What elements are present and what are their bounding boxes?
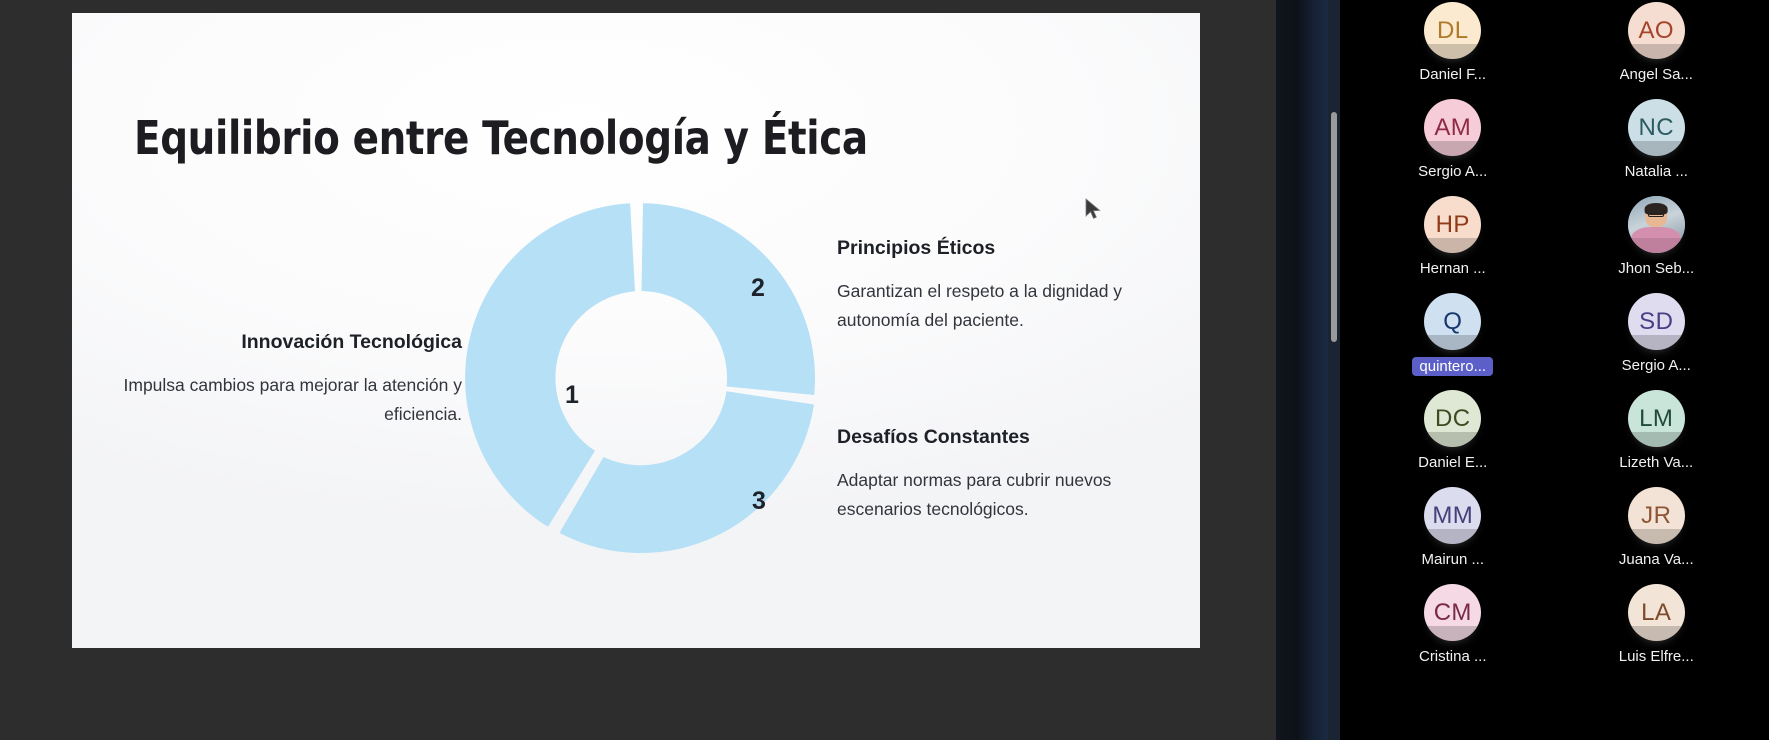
- slide-block-body: Impulsa cambios para mejorar la atención…: [102, 371, 462, 428]
- screen-root: Equilibrio entre Tecnología y Ética: [0, 0, 1769, 740]
- shared-screen-canvas: Equilibrio entre Tecnología y Ética: [0, 0, 1276, 740]
- slide-block-body: Garantizan el respeto a la dignidad y au…: [837, 277, 1167, 334]
- participant-tile[interactable]: NCNatalia ...: [1568, 99, 1746, 196]
- presentation-slide[interactable]: Equilibrio entre Tecnología y Ética: [72, 13, 1200, 648]
- donut-segment-2: [642, 203, 816, 395]
- participant-tile[interactable]: AMSergio A...: [1364, 99, 1542, 196]
- participant-name-active-speaker: quintero...: [1412, 357, 1493, 376]
- participant-name: Angel Sa...: [1620, 66, 1693, 83]
- participant-grid: DLDaniel F...AOAngel Sa...AMSergio A...N…: [1364, 0, 1745, 681]
- avatar-initials: JR: [1641, 502, 1671, 530]
- avatar-initials: Q: [1443, 308, 1462, 336]
- participant-name: Mairun ...: [1421, 551, 1484, 568]
- participant-name: Daniel E...: [1418, 454, 1487, 471]
- avatar-photo: [1628, 196, 1685, 253]
- avatar: JR: [1628, 487, 1685, 544]
- participant-name: Natalia ...: [1625, 163, 1688, 180]
- mouse-cursor-icon: [1085, 198, 1103, 222]
- donut-segment-3: [560, 391, 815, 553]
- stage-right-edge: [1276, 0, 1328, 740]
- participant-name: Sergio A...: [1418, 163, 1487, 180]
- avatar: Q: [1424, 293, 1481, 350]
- participant-tile[interactable]: DCDaniel E...: [1364, 390, 1542, 487]
- avatar-initials: MM: [1432, 502, 1473, 530]
- slide-block-body: Adaptar normas para cubrir nuevos escena…: [837, 466, 1167, 523]
- donut-chart: 1 2 3: [460, 198, 820, 558]
- participant-name: Juana Va...: [1619, 551, 1694, 568]
- avatar: SD: [1628, 293, 1685, 350]
- avatar-initials: LA: [1641, 599, 1671, 627]
- avatar: LA: [1628, 584, 1685, 641]
- participant-tile[interactable]: LALuis Elfre...: [1568, 584, 1746, 681]
- slide-block-title: Desafíos Constantes: [837, 426, 1167, 449]
- donut-label-2: 2: [751, 274, 765, 303]
- avatar: AM: [1424, 99, 1481, 156]
- avatar: MM: [1424, 487, 1481, 544]
- participant-name: Hernan ...: [1420, 260, 1486, 277]
- participant-tile[interactable]: AOAngel Sa...: [1568, 2, 1746, 99]
- donut-chart-svg: [460, 198, 820, 558]
- avatar-initials: CM: [1434, 599, 1472, 627]
- avatar-initials: AO: [1639, 17, 1674, 45]
- participant-name: Jhon Seb...: [1618, 260, 1694, 277]
- slide-block-principios-eticos: Principios Éticos Garantizan el respeto …: [837, 237, 1167, 334]
- avatar-initials: DL: [1437, 17, 1468, 45]
- participant-tile[interactable]: Qquintero...: [1364, 293, 1542, 390]
- avatar: DC: [1424, 390, 1481, 447]
- avatar: NC: [1628, 99, 1685, 156]
- participant-tile[interactable]: SDSergio A...: [1568, 293, 1746, 390]
- avatar: LM: [1628, 390, 1685, 447]
- participants-panel: DLDaniel F...AOAngel Sa...AMSergio A...N…: [1340, 0, 1769, 740]
- participant-tile[interactable]: Jhon Seb...: [1568, 196, 1746, 293]
- participant-name: Lizeth Va...: [1619, 454, 1693, 471]
- avatar-initials: DC: [1435, 405, 1470, 433]
- avatar-initials: LM: [1639, 405, 1673, 433]
- donut-label-1: 1: [565, 381, 579, 410]
- participant-name: Luis Elfre...: [1619, 648, 1694, 665]
- avatar-portrait-image: [1628, 196, 1685, 253]
- participant-name: Cristina ...: [1419, 648, 1487, 665]
- avatar: HP: [1424, 196, 1481, 253]
- avatar: AO: [1628, 2, 1685, 59]
- participant-tile[interactable]: MMMairun ...: [1364, 487, 1542, 584]
- slide-block-innovacion-tecnologica: Innovación Tecnológica Impulsa cambios p…: [102, 331, 462, 428]
- participant-name: Daniel F...: [1419, 66, 1486, 83]
- avatar: CM: [1424, 584, 1481, 641]
- participant-tile[interactable]: DLDaniel F...: [1364, 2, 1542, 99]
- donut-label-3: 3: [752, 487, 766, 516]
- participant-name: Sergio A...: [1622, 357, 1691, 374]
- slide-block-title: Innovación Tecnológica: [102, 331, 462, 354]
- avatar-initials: AM: [1434, 114, 1471, 142]
- stage-scrollbar-thumb[interactable]: [1331, 112, 1337, 342]
- shared-screen-stage: Equilibrio entre Tecnología y Ética: [0, 0, 1340, 740]
- avatar-initials: NC: [1639, 114, 1674, 142]
- participant-tile[interactable]: CMCristina ...: [1364, 584, 1542, 681]
- participant-tile[interactable]: HPHernan ...: [1364, 196, 1542, 293]
- avatar-initials: SD: [1639, 308, 1673, 336]
- page-title: Equilibrio entre Tecnología y Ética: [134, 111, 868, 165]
- participant-tile[interactable]: JRJuana Va...: [1568, 487, 1746, 584]
- slide-block-desafios-constantes: Desafíos Constantes Adaptar normas para …: [837, 426, 1167, 523]
- slide-block-title: Principios Éticos: [837, 237, 1167, 260]
- avatar: DL: [1424, 2, 1481, 59]
- avatar-initials: HP: [1436, 211, 1470, 239]
- stage-scrollbar-track[interactable]: [1328, 0, 1340, 740]
- participant-tile[interactable]: LMLizeth Va...: [1568, 390, 1746, 487]
